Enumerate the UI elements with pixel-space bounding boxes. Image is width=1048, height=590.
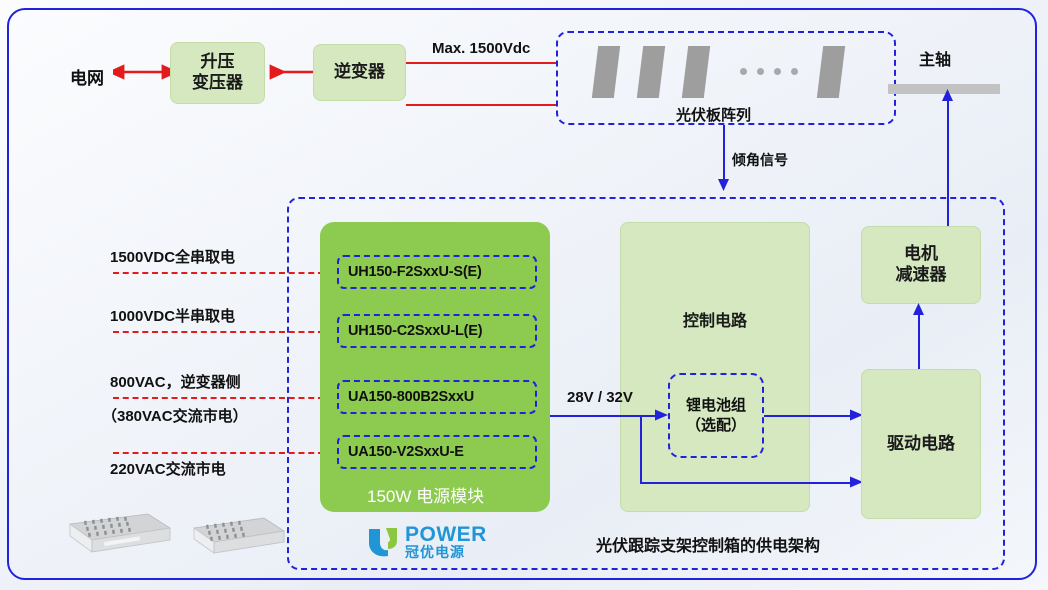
pv-ellipsis-dot	[791, 68, 798, 75]
diagram-canvas: 电网 升压 变压器 逆变器 Max. 1500Vdc 光伏板阵列 主轴	[0, 0, 1048, 590]
model-box-ua150-v2s: UA150-V2SxxU-E	[337, 435, 537, 469]
input-line-220vac	[113, 452, 324, 454]
control-circuit-label: 控制电路	[683, 311, 747, 331]
power-u-logo-icon	[366, 526, 402, 558]
motor-shaft-arrowhead	[940, 88, 956, 108]
pv-ellipsis-dot	[757, 68, 764, 75]
model-label: UA150-800B2SxxU	[348, 389, 474, 405]
pv-ellipsis-dot	[740, 68, 747, 75]
bus-arrow-battery	[653, 406, 671, 424]
inverter-box: 逆变器	[313, 44, 406, 101]
bus-branch-to-driver	[640, 482, 856, 484]
input-label-220vac: 220VAC交流市电	[110, 458, 226, 479]
transformer-label-line2: 变压器	[192, 73, 243, 94]
inverter-label: 逆变器	[334, 62, 385, 83]
driver-motor-arrowhead	[911, 302, 927, 320]
input-line-1000vdc	[113, 331, 324, 333]
psu-product-photo-2	[188, 512, 288, 562]
step-up-transformer-box: 升压 变压器	[170, 42, 265, 104]
driver-circuit-label: 驱动电路	[887, 434, 955, 455]
model-label: UH150-C2SxxU-L(E)	[348, 323, 482, 339]
bus-branch-vertical	[640, 415, 642, 482]
input-label-380vac: （380VAC交流市电）	[102, 405, 248, 426]
bus-line-to-battery	[550, 415, 660, 417]
main-shaft-label: 主轴	[919, 46, 951, 70]
grid-transformer-arrow	[113, 62, 173, 82]
inverter-transformer-arrow	[266, 62, 316, 82]
driver-to-motor-line	[918, 312, 920, 370]
model-box-ua150-800b2s: UA150-800B2SxxU	[337, 380, 537, 414]
brand-logo: POWER 冠优电源	[366, 524, 487, 560]
transformer-label-line1: 升压	[201, 52, 235, 73]
tilt-signal-label: 倾角信号	[732, 150, 788, 170]
diagram-caption: 光伏跟踪支架控制箱的供电架构	[596, 532, 820, 556]
model-label: UA150-V2SxxU-E	[348, 444, 464, 460]
pv-array-label: 光伏板阵列	[676, 104, 751, 125]
input-label-1500vdc: 1500VDC全串取电	[110, 246, 235, 267]
control-circuit-box: 控制电路	[620, 222, 810, 512]
input-line-1500vdc	[113, 272, 324, 274]
motor-label-line1: 电机	[904, 244, 938, 265]
model-label: UH150-F2SxxU-S(E)	[348, 264, 482, 280]
dc-line-bottom	[406, 104, 558, 106]
tilt-signal-arrowhead	[716, 172, 732, 192]
logo-brand-en: POWER	[405, 524, 487, 545]
input-label-800vac: 800VAC，逆变器侧	[110, 371, 241, 392]
model-box-uh150-f2s: UH150-F2SxxU-S(E)	[337, 255, 537, 289]
driver-circuit-box: 驱动电路	[861, 369, 981, 519]
battery-label-line2: （选配）	[686, 416, 746, 436]
input-label-1000vdc: 1000VDC半串取电	[110, 305, 235, 326]
battery-pack-box: 锂电池组 （选配）	[668, 373, 764, 458]
pv-ellipsis-dot	[774, 68, 781, 75]
model-box-uh150-c2s: UH150-C2SxxU-L(E)	[337, 314, 537, 348]
dc-line-top	[406, 62, 558, 64]
battery-to-driver-line	[764, 415, 856, 417]
input-line-800vac	[113, 397, 324, 399]
psu-product-photo-1	[62, 508, 174, 560]
motor-reducer-box: 电机 减速器	[861, 226, 981, 304]
grid-label: 电网	[70, 64, 104, 89]
motor-label-line2: 减速器	[896, 265, 947, 286]
logo-brand-cn: 冠优电源	[405, 546, 487, 560]
bus-voltage-label: 28V / 32V	[567, 389, 633, 406]
max-voltage-label: Max. 1500Vdc	[432, 40, 530, 57]
battery-label-line1: 锂电池组	[686, 396, 746, 416]
module-caption: 150W 电源模块	[367, 482, 484, 507]
